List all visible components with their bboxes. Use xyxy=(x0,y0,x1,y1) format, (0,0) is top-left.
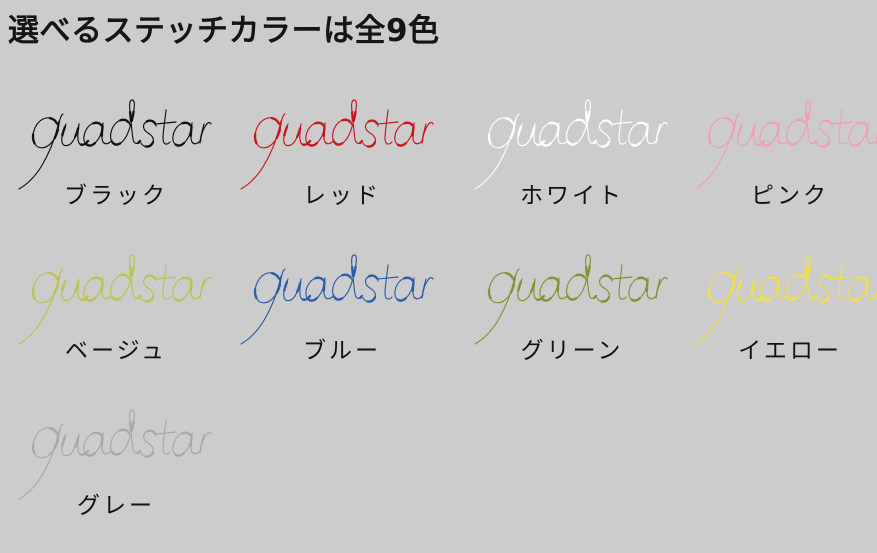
color-swatch-white[interactable]: quadstar ホワイト xyxy=(456,88,676,238)
color-swatch-black[interactable]: quadstar ブラック xyxy=(0,88,220,238)
quadstar-logo-icon: quadstar xyxy=(6,243,211,335)
color-swatch-pink[interactable]: quadstar ピンク xyxy=(676,88,877,238)
color-swatch-grid: quadstar ブラック quadstar レッド quadstar xyxy=(0,88,877,553)
color-swatch-beige[interactable]: quadstar ベージュ xyxy=(0,243,220,393)
quadstar-logo-icon: quadstar xyxy=(6,398,211,490)
color-label: グリーン xyxy=(456,337,682,365)
wordmark-green: quadstar xyxy=(456,243,676,335)
quadstar-logo-icon: quadstar xyxy=(682,243,877,335)
stitch-color-chart: 選べるステッチカラーは全9色 quadstar ブラック quadstar レッ… xyxy=(0,0,877,500)
quadstar-logo-icon: quadstar xyxy=(682,88,877,180)
color-label: ブルー xyxy=(222,337,452,365)
quadstar-logo-icon: quadstar xyxy=(462,88,667,180)
wordmark-blue: quadstar xyxy=(222,243,442,335)
wordmark-black: quadstar xyxy=(0,88,220,180)
wordmark-pink: quadstar xyxy=(676,88,877,180)
color-label: グレー xyxy=(0,492,226,520)
color-swatch-yellow[interactable]: quadstar イエロー xyxy=(676,243,877,393)
color-label: ピンク xyxy=(676,182,877,210)
color-swatch-red[interactable]: quadstar レッド xyxy=(222,88,442,238)
color-swatch-blue[interactable]: quadstar ブルー xyxy=(222,243,442,393)
wordmark-gray: quadstar xyxy=(0,398,220,490)
color-label: イエロー xyxy=(676,337,877,365)
quadstar-logo-icon: quadstar xyxy=(228,243,433,335)
color-label: ホワイト xyxy=(456,182,682,210)
color-swatch-green[interactable]: quadstar グリーン xyxy=(456,243,676,393)
quadstar-logo-icon: quadstar xyxy=(6,88,211,180)
quadstar-logo-icon: quadstar xyxy=(228,88,433,180)
swatch-row: quadstar ブラック quadstar レッド quadstar xyxy=(0,88,877,243)
wordmark-beige: quadstar xyxy=(0,243,220,335)
wordmark-red: quadstar xyxy=(222,88,442,180)
color-label: ベージュ xyxy=(0,337,226,365)
color-label: レッド xyxy=(222,182,452,210)
color-label: ブラック xyxy=(0,182,226,210)
page-title: 選べるステッチカラーは全9色 xyxy=(8,13,440,49)
color-swatch-gray[interactable]: quadstar グレー xyxy=(0,398,220,548)
quadstar-logo-icon: quadstar xyxy=(462,243,667,335)
swatch-row: quadstar グレー xyxy=(0,398,877,553)
wordmark-white: quadstar xyxy=(456,88,676,180)
wordmark-yellow: quadstar xyxy=(676,243,877,335)
swatch-row: quadstar ベージュ quadstar ブルー quadstar xyxy=(0,243,877,398)
